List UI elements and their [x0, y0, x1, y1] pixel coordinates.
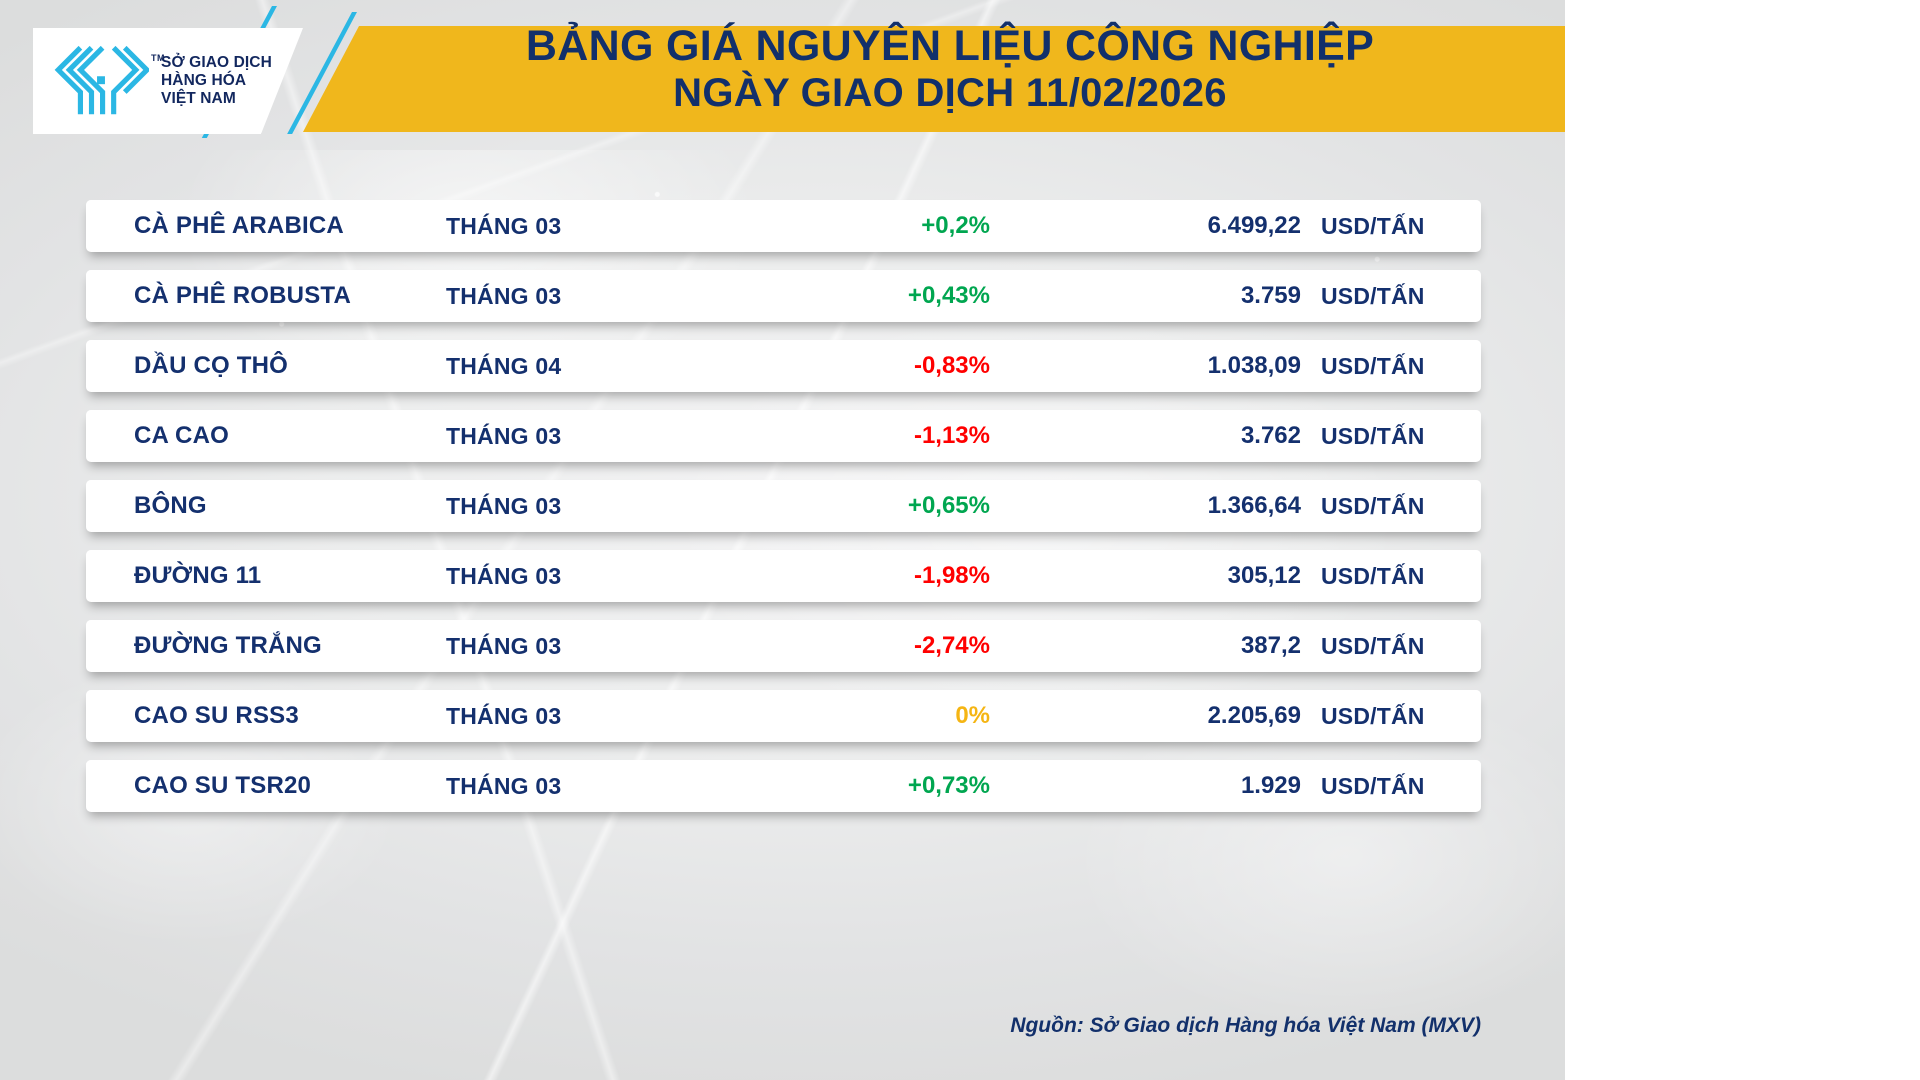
- contract-month: THÁNG 03: [446, 563, 706, 590]
- contract-month: THÁNG 03: [446, 633, 706, 660]
- commodity-name: ĐƯỜNG TRẮNG: [86, 632, 446, 660]
- price-unit: USD/TẤN: [1321, 213, 1481, 240]
- logo-line-3: VIỆT NAM: [161, 90, 272, 108]
- title-primary: BẢNG GIÁ NGUYÊN LIỆU CÔNG NGHIỆP: [360, 22, 1540, 70]
- contract-month: THÁNG 03: [446, 423, 706, 450]
- logo-line-1: SỞ GIAO DỊCH: [161, 54, 272, 72]
- price-table: CÀ PHÊ ARABICATHÁNG 03+0,2%6.499,22USD/T…: [86, 200, 1481, 830]
- title-trading-date: NGÀY GIAO DỊCH 11/02/2026: [360, 70, 1540, 117]
- logo-trademark: TM: [151, 53, 165, 63]
- price-value: 3.759: [1016, 282, 1321, 310]
- logo-wordmark: SỞ GIAO DỊCH HÀNG HÓA VIỆT NAM: [161, 54, 272, 108]
- change-percent: +0,73%: [706, 772, 1016, 800]
- change-percent: +0,43%: [706, 282, 1016, 310]
- commodity-name: ĐƯỜNG 11: [86, 562, 446, 590]
- price-value: 305,12: [1016, 562, 1321, 590]
- source-attribution: Nguồn: Sở Giao dịch Hàng hóa Việt Nam (M…: [1010, 1014, 1481, 1038]
- price-board: TM SỞ GIAO DỊCH HÀNG HÓA VIỆT NAM BẢNG G…: [0, 0, 1565, 1080]
- price-value: 6.499,22: [1016, 212, 1321, 240]
- price-unit: USD/TẤN: [1321, 283, 1481, 310]
- contract-month: THÁNG 03: [446, 493, 706, 520]
- price-unit: USD/TẤN: [1321, 773, 1481, 800]
- change-percent: -1,98%: [706, 562, 1016, 590]
- price-unit: USD/TẤN: [1321, 633, 1481, 660]
- mxv-logo-icon: [53, 43, 149, 119]
- logo-line-2: HÀNG HÓA: [161, 72, 272, 90]
- price-unit: USD/TẤN: [1321, 703, 1481, 730]
- commodity-name: CA CAO: [86, 422, 446, 450]
- commodity-name: CÀ PHÊ ARABICA: [86, 212, 446, 240]
- change-percent: -2,74%: [706, 632, 1016, 660]
- table-row: CA CAOTHÁNG 03-1,13%3.762USD/TẤN: [86, 410, 1481, 462]
- change-percent: -1,13%: [706, 422, 1016, 450]
- commodity-name: CÀ PHÊ ROBUSTA: [86, 282, 446, 310]
- price-value: 1.929: [1016, 772, 1321, 800]
- price-value: 1.366,64: [1016, 492, 1321, 520]
- table-row: DẦU CỌ THÔTHÁNG 04-0,83%1.038,09USD/TẤN: [86, 340, 1481, 392]
- table-row: CÀ PHÊ ARABICATHÁNG 03+0,2%6.499,22USD/T…: [86, 200, 1481, 252]
- change-percent: +0,2%: [706, 212, 1016, 240]
- price-unit: USD/TẤN: [1321, 423, 1481, 450]
- price-unit: USD/TẤN: [1321, 563, 1481, 590]
- table-row: ĐƯỜNG TRẮNGTHÁNG 03-2,74%387,2USD/TẤN: [86, 620, 1481, 672]
- price-value: 2.205,69: [1016, 702, 1321, 730]
- table-row: BÔNGTHÁNG 03+0,65%1.366,64USD/TẤN: [86, 480, 1481, 532]
- table-row: CÀ PHÊ ROBUSTATHÁNG 03+0,43%3.759USD/TẤN: [86, 270, 1481, 322]
- contract-month: THÁNG 04: [446, 353, 706, 380]
- contract-month: THÁNG 03: [446, 703, 706, 730]
- commodity-name: CAO SU RSS3: [86, 702, 446, 730]
- change-percent: 0%: [706, 702, 1016, 730]
- logo-card: TM SỞ GIAO DỊCH HÀNG HÓA VIỆT NAM: [33, 28, 303, 134]
- table-row: ĐƯỜNG 11THÁNG 03-1,98%305,12USD/TẤN: [86, 550, 1481, 602]
- contract-month: THÁNG 03: [446, 283, 706, 310]
- price-value: 3.762: [1016, 422, 1321, 450]
- price-unit: USD/TẤN: [1321, 493, 1481, 520]
- board-header: TM SỞ GIAO DỊCH HÀNG HÓA VIỆT NAM BẢNG G…: [0, 0, 1565, 150]
- price-unit: USD/TẤN: [1321, 353, 1481, 380]
- contract-month: THÁNG 03: [446, 213, 706, 240]
- change-percent: -0,83%: [706, 352, 1016, 380]
- price-value: 1.038,09: [1016, 352, 1321, 380]
- change-percent: +0,65%: [706, 492, 1016, 520]
- commodity-name: CAO SU TSR20: [86, 772, 446, 800]
- contract-month: THÁNG 03: [446, 773, 706, 800]
- commodity-name: BÔNG: [86, 492, 446, 520]
- table-row: CAO SU TSR20THÁNG 03+0,73%1.929USD/TẤN: [86, 760, 1481, 812]
- commodity-name: DẦU CỌ THÔ: [86, 352, 446, 380]
- table-row: CAO SU RSS3THÁNG 030%2.205,69USD/TẤN: [86, 690, 1481, 742]
- price-value: 387,2: [1016, 632, 1321, 660]
- page-title: BẢNG GIÁ NGUYÊN LIỆU CÔNG NGHIỆP NGÀY GI…: [360, 22, 1540, 117]
